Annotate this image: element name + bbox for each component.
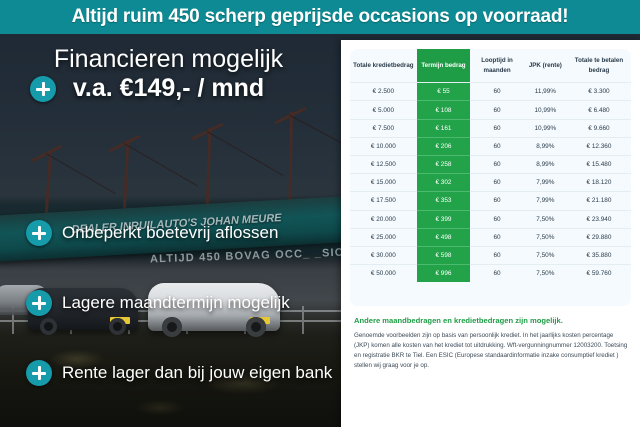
table-cell: € 399 bbox=[417, 210, 471, 228]
table-cell: 60 bbox=[470, 83, 524, 101]
benefit-label-1: Onbeperkt boetevrij aflossen bbox=[62, 223, 278, 243]
table-cell: € 29.880 bbox=[567, 228, 631, 246]
table-cell: 10,99% bbox=[524, 101, 567, 119]
column-header-total-credit: Totale kredietbedrag bbox=[350, 49, 417, 83]
table-cell: 8,99% bbox=[524, 137, 567, 155]
table-cell: 60 bbox=[470, 246, 524, 264]
table-cell: 60 bbox=[470, 137, 524, 155]
benefit-item-2: Lagere maandtermijn mogelijk bbox=[26, 290, 339, 316]
table-row: € 25.000€ 498607,50%€ 29.880 bbox=[350, 228, 631, 246]
note-title: Andere maandbedragen en kredietbedragen … bbox=[354, 316, 630, 326]
table-cell: € 50.000 bbox=[350, 265, 417, 283]
table-cell: € 161 bbox=[417, 119, 471, 137]
table-cell: € 15.000 bbox=[350, 174, 417, 192]
column-header-total-payable: Totale te betalen bedrag bbox=[567, 49, 631, 83]
rates-table-body: € 2.500€ 556011,99%€ 3.300€ 5.000€ 10860… bbox=[350, 83, 631, 283]
table-cell: € 12.500 bbox=[350, 155, 417, 173]
table-cell: 60 bbox=[470, 265, 524, 283]
table-cell: € 353 bbox=[417, 192, 471, 210]
top-banner: Altijd ruim 450 scherp geprijsde occasio… bbox=[0, 0, 640, 34]
table-cell: 10,99% bbox=[524, 119, 567, 137]
table-cell: 7,50% bbox=[524, 265, 567, 283]
table-row: € 10.000€ 206608,99%€ 12.360 bbox=[350, 137, 631, 155]
table-row: € 30.000€ 598607,50%€ 35.880 bbox=[350, 246, 631, 264]
table-cell: € 23.940 bbox=[567, 210, 631, 228]
table-cell: € 598 bbox=[417, 246, 471, 264]
table-cell: € 2.500 bbox=[350, 83, 417, 101]
plus-icon bbox=[26, 290, 52, 316]
table-cell: € 10.000 bbox=[350, 137, 417, 155]
table-cell: 60 bbox=[470, 174, 524, 192]
table-cell: € 206 bbox=[417, 137, 471, 155]
rates-table: Totale kredietbedrag Termijn bedrag Loop… bbox=[350, 49, 631, 282]
table-row: € 5.000€ 1086010,99%€ 6.480 bbox=[350, 101, 631, 119]
plus-icon bbox=[26, 360, 52, 386]
table-cell: € 3.300 bbox=[567, 83, 631, 101]
table-cell: 60 bbox=[470, 210, 524, 228]
table-row: € 50.000€ 996607,50%€ 59.760 bbox=[350, 265, 631, 283]
table-cell: 60 bbox=[470, 119, 524, 137]
column-header-apr: JPK (rente) bbox=[524, 49, 567, 83]
benefit-item-1: Onbeperkt boetevrij aflossen bbox=[26, 220, 339, 246]
headline-plus-marker bbox=[30, 76, 339, 102]
table-row: € 7.500€ 1616010,99%€ 9.660 bbox=[350, 119, 631, 137]
plus-icon bbox=[26, 220, 52, 246]
column-header-monthly-amount: Termijn bedrag bbox=[417, 49, 471, 83]
table-row: € 15.000€ 302607,99%€ 18.120 bbox=[350, 174, 631, 192]
table-row: € 17.500€ 353607,99%€ 21.180 bbox=[350, 192, 631, 210]
table-cell: € 108 bbox=[417, 101, 471, 119]
benefit-label-2: Lagere maandtermijn mogelijk bbox=[62, 293, 290, 313]
plus-icon bbox=[30, 76, 56, 102]
table-cell: 60 bbox=[470, 101, 524, 119]
table-cell: € 59.760 bbox=[567, 265, 631, 283]
table-cell: € 6.480 bbox=[567, 101, 631, 119]
headline-line-1: Financieren mogelijk bbox=[0, 46, 337, 74]
table-cell: € 5.000 bbox=[350, 101, 417, 119]
table-cell: € 21.180 bbox=[567, 192, 631, 210]
rates-table-card: Totale kredietbedrag Termijn bedrag Loop… bbox=[350, 49, 631, 306]
table-cell: € 302 bbox=[417, 174, 471, 192]
left-content-column: Financieren mogelijk v.a. €149,- / mnd O… bbox=[0, 34, 345, 427]
table-row: € 12.500€ 258608,99%€ 15.480 bbox=[350, 155, 631, 173]
table-row: € 2.500€ 556011,99%€ 3.300 bbox=[350, 83, 631, 101]
table-cell: € 18.120 bbox=[567, 174, 631, 192]
table-cell: € 9.660 bbox=[567, 119, 631, 137]
column-header-duration: Looptijd in maanden bbox=[470, 49, 524, 83]
rates-table-head: Totale kredietbedrag Termijn bedrag Loop… bbox=[350, 49, 631, 83]
table-cell: € 55 bbox=[417, 83, 471, 101]
table-cell: 7,99% bbox=[524, 192, 567, 210]
table-cell: 7,50% bbox=[524, 246, 567, 264]
rates-panel: Totale kredietbedrag Termijn bedrag Loop… bbox=[341, 40, 640, 427]
table-cell: € 15.480 bbox=[567, 155, 631, 173]
promo-banner-image: DEALER INRUILAUTO'S JOHAN MEURE ALTIJD 4… bbox=[0, 0, 640, 427]
table-cell: € 20.000 bbox=[350, 210, 417, 228]
table-cell: 60 bbox=[470, 155, 524, 173]
table-cell: 7,50% bbox=[524, 228, 567, 246]
note-body: Genoemde voorbeelden zijn op basis van p… bbox=[354, 331, 628, 371]
table-cell: € 17.500 bbox=[350, 192, 417, 210]
benefit-label-3: Rente lager dan bij jouw eigen bank bbox=[62, 363, 332, 383]
table-cell: € 35.880 bbox=[567, 246, 631, 264]
table-row: € 20.000€ 399607,50%€ 23.940 bbox=[350, 210, 631, 228]
table-cell: 7,50% bbox=[524, 210, 567, 228]
table-cell: 8,99% bbox=[524, 155, 567, 173]
table-cell: 7,99% bbox=[524, 174, 567, 192]
table-cell: € 25.000 bbox=[350, 228, 417, 246]
table-cell: 60 bbox=[470, 192, 524, 210]
top-banner-text: Altijd ruim 450 scherp geprijsde occasio… bbox=[72, 6, 569, 28]
table-cell: € 30.000 bbox=[350, 246, 417, 264]
benefit-item-3: Rente lager dan bij jouw eigen bank bbox=[26, 360, 339, 386]
table-cell: 11,99% bbox=[524, 83, 567, 101]
table-cell: € 258 bbox=[417, 155, 471, 173]
table-cell: € 996 bbox=[417, 265, 471, 283]
table-header-row: Totale kredietbedrag Termijn bedrag Loop… bbox=[350, 49, 631, 83]
table-cell: € 498 bbox=[417, 228, 471, 246]
table-cell: 60 bbox=[470, 228, 524, 246]
table-cell: € 7.500 bbox=[350, 119, 417, 137]
table-cell: € 12.360 bbox=[567, 137, 631, 155]
